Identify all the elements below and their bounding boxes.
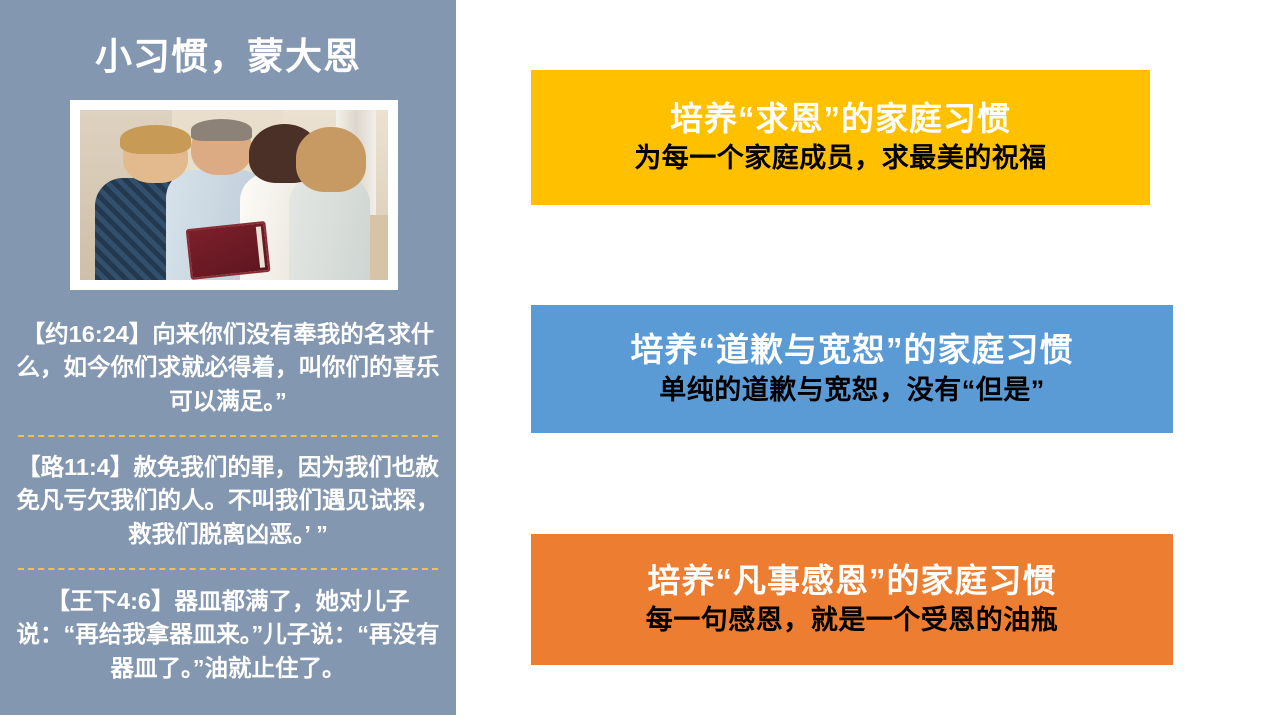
photo-girl-hair (296, 127, 367, 192)
presentation-slide: 小习惯，蒙大恩 【约16:2 (0, 0, 1280, 720)
scripture-verse-2kings: 【王下4:6】器皿都满了，她对儿子说：“再给我拿器皿来。”儿子说：“再没有器皿了… (8, 585, 448, 685)
banner-apologize-forgive: 培养“道歉与宽恕”的家庭习惯 单纯的道歉与宽恕，没有“但是” (531, 305, 1173, 433)
photo-boy-hair (120, 125, 191, 154)
banner-ask-grace: 培养“求恩”的家庭习惯 为每一个家庭成员，求最美的祝福 (531, 70, 1150, 205)
banner-headline: 培养“凡事感恩”的家庭习惯 (648, 561, 1057, 601)
banner-subline: 每一句感恩，就是一个受恩的油瓶 (646, 604, 1059, 638)
banner-subline: 为每一个家庭成员，求最美的祝福 (634, 142, 1047, 176)
banner-subline: 单纯的道歉与宽恕，没有“但是” (659, 374, 1045, 408)
page-title: 小习惯，蒙大恩 (0, 36, 456, 79)
photo-girl-body (289, 176, 369, 280)
scripture-verse-luke: 【路11:4】赦免我们的罪，因为我们也赦免凡亏欠我们的人。不叫我们遇见试探，救我… (8, 451, 448, 551)
banner-thanksgiving: 培养“凡事感恩”的家庭习惯 每一句感恩，就是一个受恩的油瓶 (531, 534, 1173, 665)
photo-father-hair (191, 119, 253, 141)
scripture-divider-2 (18, 568, 438, 570)
banner-headline: 培养“求恩”的家庭习惯 (670, 99, 1011, 139)
scripture-divider-1 (18, 435, 438, 437)
sidebar-panel: 小习惯，蒙大恩 【约16:2 (0, 0, 456, 715)
photo-frame (70, 100, 398, 290)
photo-bible-book (186, 221, 271, 280)
scripture-verse-john: 【约16:24】向来你们没有奉我的名求什么，如今你们求就必得着，叫你们的喜乐可以… (8, 318, 448, 418)
banner-headline: 培养“道歉与宽恕”的家庭习惯 (631, 330, 1074, 370)
family-reading-bible-photo (80, 110, 388, 280)
